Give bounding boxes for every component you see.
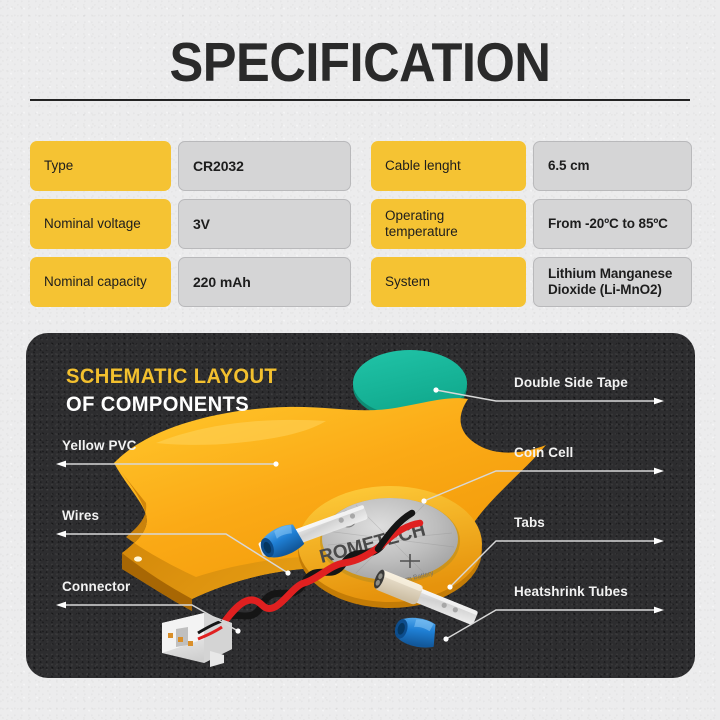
callout-coin-cell: Coin Cell: [514, 445, 573, 460]
spec-value: 220 mAh: [178, 257, 351, 307]
spec-row: Type CR2032: [30, 141, 351, 191]
spec-label: Cable lenght: [371, 141, 526, 191]
spec-label: Nominal capacity: [30, 257, 171, 307]
spec-row: Nominal voltage 3V: [30, 199, 351, 249]
panel-heading-line2: OF COMPONENTS: [66, 391, 277, 419]
panel-heading-line1: SCHEMATIC LAYOUT: [66, 363, 277, 391]
spec-value: From -20ºC to 85ºC: [533, 199, 692, 249]
callout-double-side-tape: Double Side Tape: [514, 375, 628, 390]
spec-row: Operating temperature From -20ºC to 85ºC: [371, 199, 692, 249]
callout-yellow-pvc: Yellow PVC: [62, 438, 137, 453]
callout-wires: Wires: [62, 508, 99, 523]
panel-heading: SCHEMATIC LAYOUT OF COMPONENTS: [66, 363, 286, 418]
spec-value: Lithium Manganese Dioxide (Li-MnO2): [533, 257, 692, 307]
spec-value: 3V: [178, 199, 351, 249]
callout-connector: Connector: [62, 579, 130, 594]
spec-row: Nominal capacity 220 mAh: [30, 257, 351, 307]
spec-value: 6.5 cm: [533, 141, 692, 191]
spec-label: Operating temperature: [371, 199, 526, 249]
spec-label: System: [371, 257, 526, 307]
spec-label: Type: [30, 141, 171, 191]
spec-row: System Lithium Manganese Dioxide (Li-MnO…: [371, 257, 692, 307]
specification-table: Type CR2032 Nominal voltage 3V Nominal c…: [30, 141, 692, 306]
spec-label: Nominal voltage: [30, 199, 171, 249]
spec-value: CR2032: [178, 141, 351, 191]
callout-heatshrink-tubes: Heatshrink Tubes: [514, 584, 628, 599]
spec-row: Cable lenght 6.5 cm: [371, 141, 692, 191]
schematic-panel: SCHEMATIC LAYOUT OF COMPONENTS: [26, 333, 695, 678]
page-title: SPECIFICATION: [29, 30, 691, 94]
spec-column-right: Cable lenght 6.5 cm Operating temperatur…: [371, 141, 692, 307]
spec-column-left: Type CR2032 Nominal voltage 3V Nominal c…: [30, 141, 351, 307]
title-divider: [30, 99, 690, 101]
callout-tabs: Tabs: [514, 515, 545, 530]
